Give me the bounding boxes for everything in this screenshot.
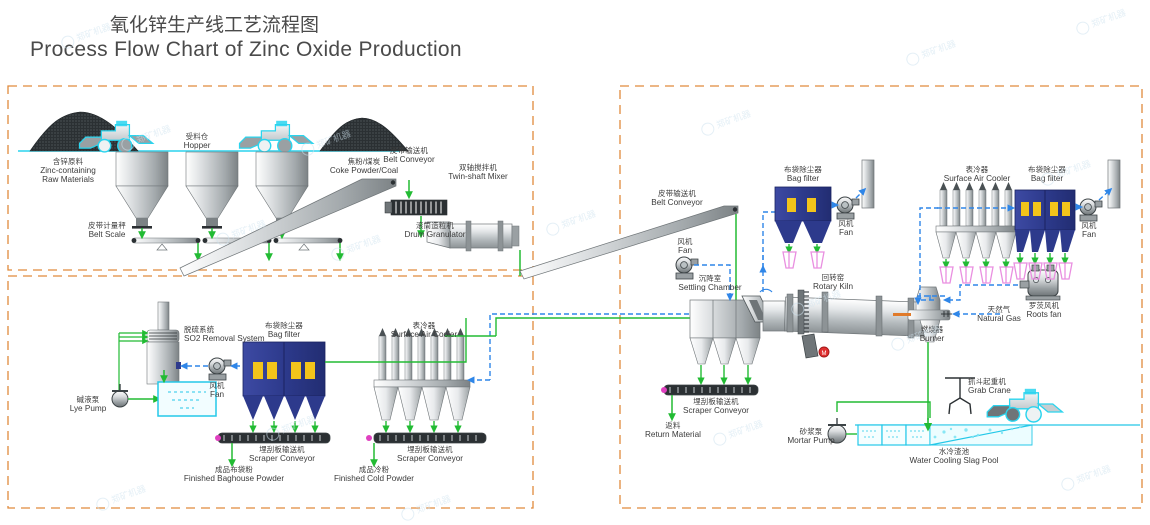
mortar-pump — [828, 418, 846, 443]
diagram-graphics: M — [0, 0, 1150, 525]
coke-pile — [320, 118, 408, 151]
flow-bagfilter-kiln-discharge — [789, 244, 817, 251]
scraper-conveyor-left-2 — [366, 433, 486, 443]
gas-duct-settling — [694, 212, 790, 298]
chimney-kiln — [862, 160, 874, 208]
raw-material-yard — [18, 112, 408, 153]
belt-scale-3 — [274, 238, 343, 250]
scraper-conveyor-right — [661, 385, 758, 395]
fan-right — [1080, 199, 1102, 221]
belt-scale-1 — [132, 238, 201, 250]
flow-settling-discharge — [701, 365, 748, 382]
flow-chart-canvas: 氧化锌生产线工艺流程图 Process Flow Chart of Zinc O… — [0, 0, 1150, 525]
surface-air-cooler-left — [374, 328, 470, 420]
kiln-drive-motor: M — [802, 334, 829, 358]
hopper-2 — [186, 152, 238, 229]
fan-left — [209, 358, 231, 380]
lye-spray-lines — [119, 333, 146, 392]
scraper-conveyor-left-1 — [215, 433, 330, 443]
flow-bagfilter-left-discharge — [253, 421, 315, 430]
flow-bagfilter-right-discharge — [1020, 253, 1065, 262]
hopper-1 — [116, 152, 168, 229]
svg-text:M: M — [822, 351, 827, 357]
wheel-loader-3 — [987, 389, 1062, 422]
grab-crane — [945, 378, 975, 414]
discharge-valve-kiln — [783, 252, 824, 268]
hopper-group — [116, 152, 308, 229]
water-cooling-slag-pool — [855, 418, 1140, 445]
flow-cooler-left-discharge — [386, 421, 458, 430]
twin-shaft-mixer — [385, 200, 447, 215]
settling-chamber — [690, 296, 773, 364]
fan-kiln — [837, 197, 859, 219]
duct-elbow — [760, 289, 772, 292]
discharge-valve-cooler-right — [940, 267, 1013, 283]
drum-granulator — [427, 221, 519, 251]
surface-air-cooler-right — [936, 182, 1016, 258]
flow-cooler-right-discharge — [946, 259, 1006, 266]
chimney-right — [1108, 160, 1120, 208]
cross-section-ducts — [325, 314, 745, 380]
lye-pump — [112, 384, 128, 407]
belt-conveyor-2 — [520, 206, 738, 279]
fan-settling — [676, 257, 698, 279]
wheel-loader-2 — [240, 121, 313, 153]
lye-tank — [158, 382, 216, 416]
bag-filter-kiln — [775, 187, 831, 243]
bag-filter-right — [1015, 190, 1075, 252]
bag-filter-left — [243, 342, 325, 420]
rotary-kiln: M — [763, 290, 931, 358]
